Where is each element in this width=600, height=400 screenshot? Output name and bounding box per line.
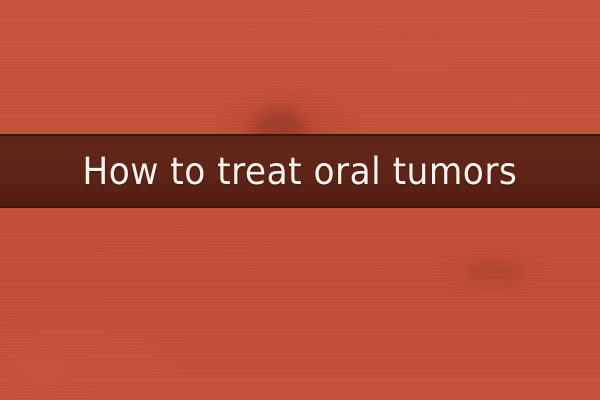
banner-title: How to treat oral tumors [83, 153, 518, 190]
background-blob-lower-left [6, 356, 76, 382]
title-banner-card: How to treat oral tumors [0, 0, 600, 400]
title-band: How to treat oral tumors [0, 134, 600, 208]
background-blob-right [466, 262, 522, 282]
